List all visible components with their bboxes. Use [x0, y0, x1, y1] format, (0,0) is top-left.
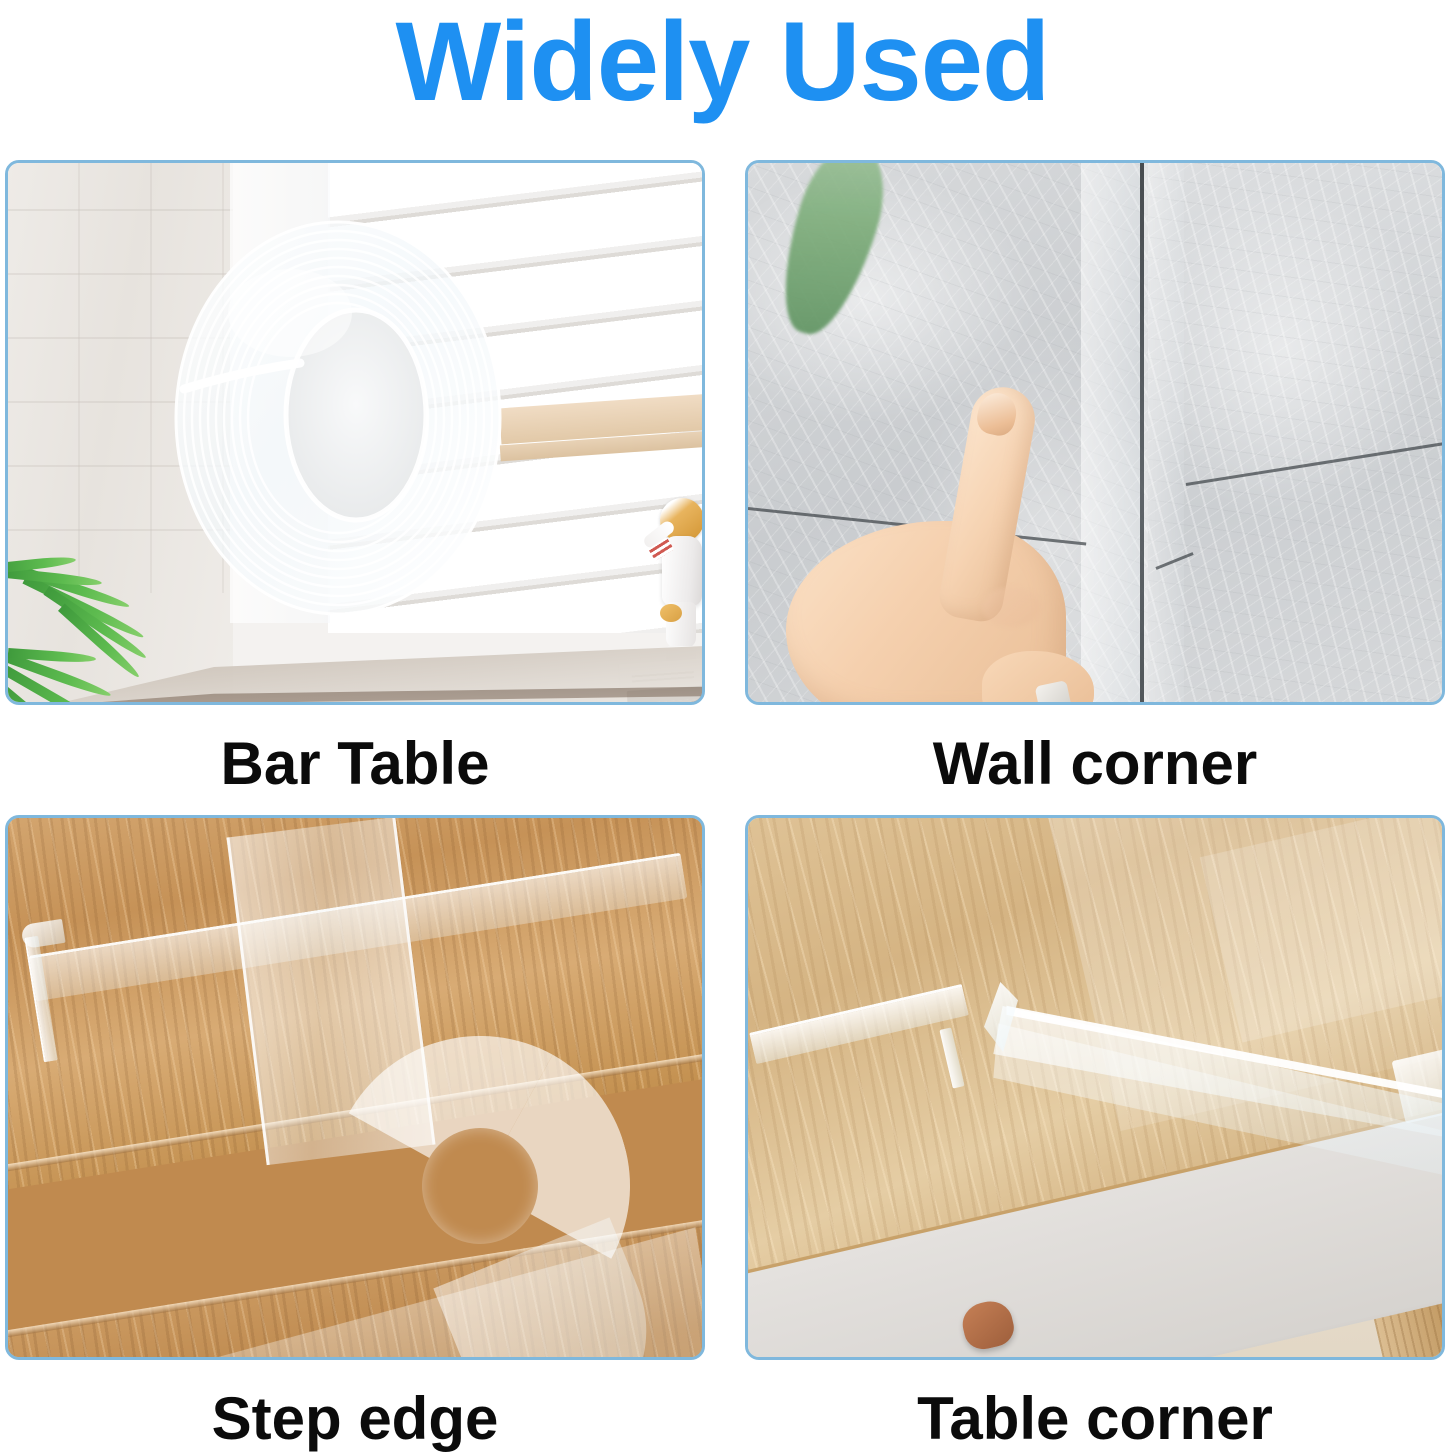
corner-guard-lifting	[984, 994, 1442, 1284]
tape-roll-highlight	[228, 269, 352, 357]
scene-step-edge	[8, 818, 702, 1357]
scene-wall-corner	[748, 163, 1442, 702]
panel-step-edge: Step edge	[5, 815, 705, 1452]
photo-wall-corner	[745, 160, 1445, 705]
photo-table-corner	[745, 815, 1445, 1360]
hand	[786, 391, 1146, 702]
infographic-page: Widely Used	[0, 0, 1445, 1453]
scene-bar-table	[8, 163, 702, 702]
panel-table-corner: Table corner	[745, 815, 1445, 1452]
marble-tile-right	[1148, 163, 1442, 702]
photo-step-edge	[5, 815, 705, 1360]
corner-guard-strip-right	[1144, 163, 1184, 702]
scene-table-corner	[748, 818, 1442, 1357]
panel-grid: Bar Table	[0, 160, 1445, 1450]
caption-table-corner: Table corner	[745, 1386, 1445, 1452]
page-title: Widely Used	[0, 0, 1445, 132]
photo-bar-table	[5, 160, 705, 705]
curling-tape-piece	[246, 826, 666, 1326]
caption-bar-table: Bar Table	[5, 731, 705, 797]
panel-wall-corner: Wall corner	[745, 160, 1445, 797]
finger-knuckle	[982, 587, 1040, 627]
caption-step-edge: Step edge	[5, 1386, 705, 1452]
caption-wall-corner: Wall corner	[745, 731, 1445, 797]
plant-fronds-lower	[5, 641, 168, 705]
panel-bar-table: Bar Table	[5, 160, 705, 797]
